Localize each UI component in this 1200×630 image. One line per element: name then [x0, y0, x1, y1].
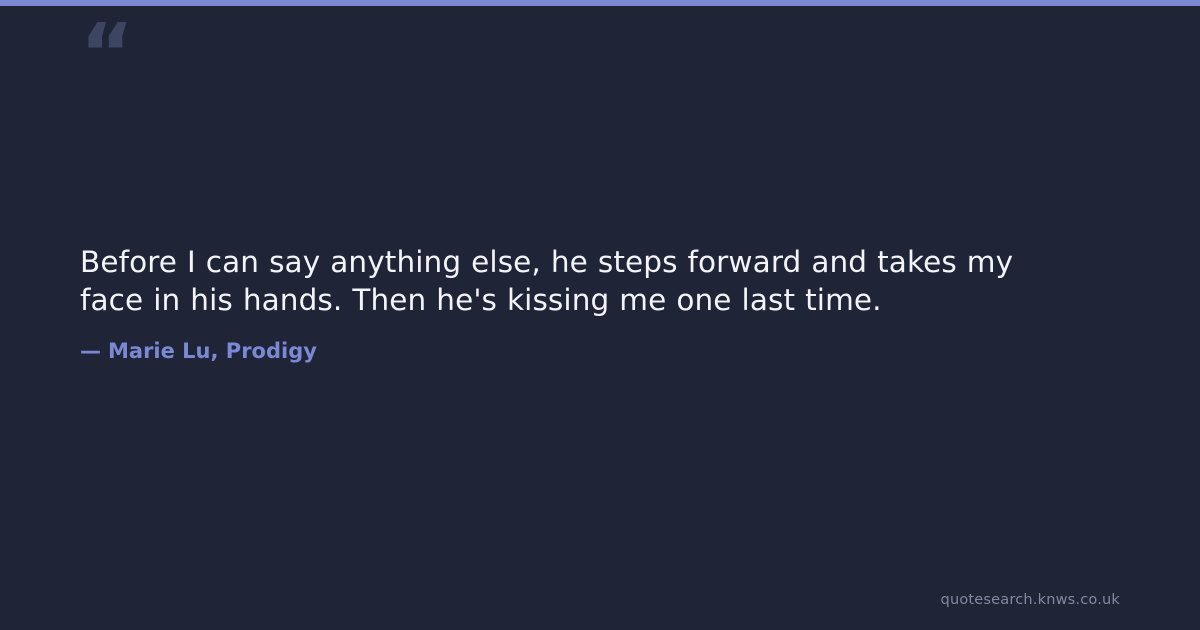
attribution-dash: —	[80, 339, 101, 363]
quote-block: Before I can say anything else, he steps…	[80, 243, 1085, 319]
quote-content: “ Before I can say anything else, he ste…	[80, 0, 1120, 630]
attribution-label: Marie Lu, Prodigy	[108, 339, 317, 363]
quote-card: “ Before I can say anything else, he ste…	[0, 0, 1200, 630]
site-watermark: quotesearch.knws.co.uk	[941, 592, 1120, 608]
quotation-mark-icon: “	[80, 14, 132, 96]
quote-text: Before I can say anything else, he steps…	[80, 243, 1085, 319]
quote-attribution: —Marie Lu, Prodigy	[80, 336, 317, 366]
